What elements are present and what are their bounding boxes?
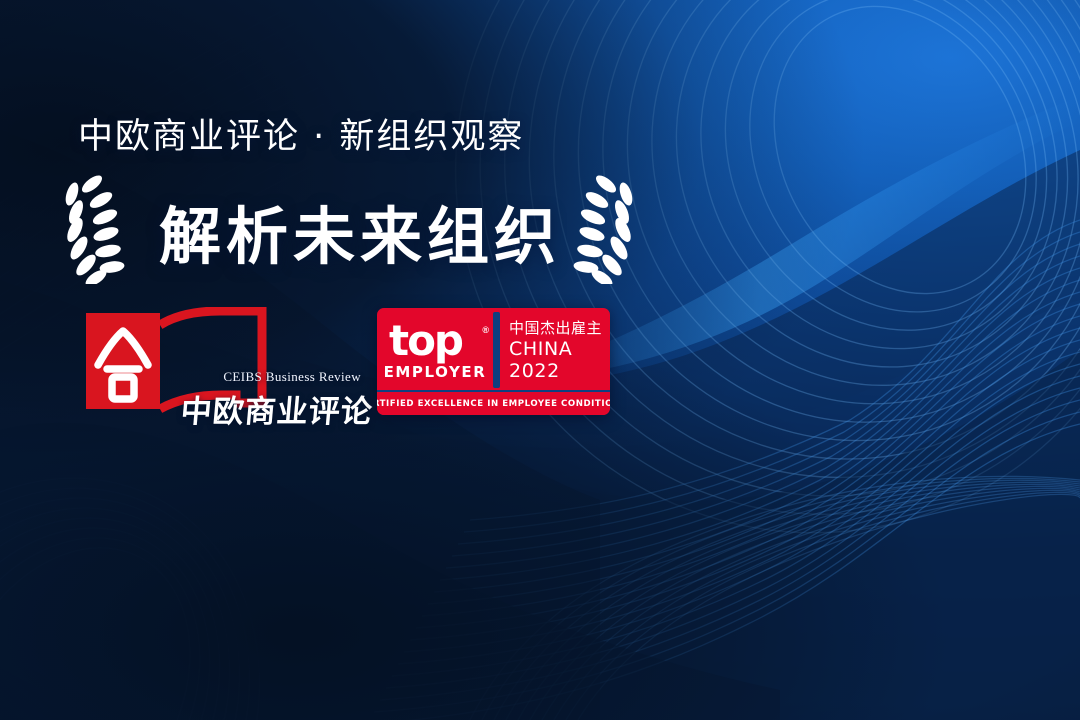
top-employer-logo-block: top ® EMPLOYER xyxy=(377,308,493,392)
top-wordmark: top xyxy=(389,320,462,362)
badge-chinese-title: 中国杰出雇主 xyxy=(509,319,610,338)
ceibs-logo: CEIBS Business Review 中欧商业评论 xyxy=(86,307,358,427)
poster-canvas: 中欧商业评论 · 新组织观察 xyxy=(0,0,1080,720)
badge-country: CHINA xyxy=(509,338,610,360)
badge-divider xyxy=(493,312,500,388)
top-employer-info-block: 中国杰出雇主 CHINA 2022 xyxy=(505,308,610,392)
ceibs-english-name: CEIBS Business Review xyxy=(223,369,361,385)
badge-certification-text: CERTIFIED EXCELLENCE IN EMPLOYEE CONDITI… xyxy=(377,399,610,409)
poster-content: 中欧商业评论 · 新组织观察 xyxy=(0,0,1080,720)
badge-year: 2022 xyxy=(509,360,610,382)
top-wordmark-wrap: top ® xyxy=(383,323,487,365)
top-employer-badge: top ® EMPLOYER 中国杰出雇主 CHINA 2022 CERTIFI… xyxy=(377,308,610,415)
headline-row: 解析未来组织 xyxy=(40,176,680,286)
kicker-text: 中欧商业评论 · 新组织观察 xyxy=(78,108,524,159)
registered-mark-icon: ® xyxy=(482,325,489,335)
badge-certification-strip: CERTIFIED EXCELLENCE IN EMPLOYEE CONDITI… xyxy=(377,390,610,415)
ceibs-chinese-name: 中欧商业评论 xyxy=(179,386,363,431)
ceibs-wordmark: CEIBS Business Review 中欧商业评论 xyxy=(181,369,361,431)
employer-wordmark: EMPLOYER xyxy=(384,364,487,380)
headline-text: 解析未来组织 xyxy=(125,186,595,276)
